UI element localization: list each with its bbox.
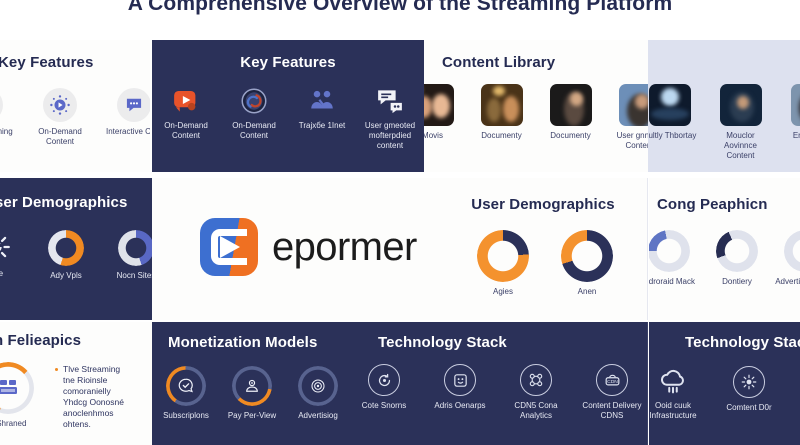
broadcast-icon [0, 88, 3, 122]
user-demographics-dark-list: Ape Ady Vpls Nocn Sites [0, 230, 152, 281]
video-play-icon [171, 86, 201, 116]
list-item-label: Cultly Thbortay [648, 131, 701, 141]
list-item-label: Documenty [471, 131, 533, 141]
list-item[interactable]: Dontiery [706, 230, 768, 287]
target-icon [298, 366, 338, 406]
key-features-dark-list: On-Demand Content On-Demand Content [158, 86, 418, 151]
list-item[interactable]: CDN5 Cona Analytics [505, 364, 567, 421]
sun-burst-icon [733, 366, 765, 398]
thumbnail-concert [649, 84, 691, 126]
chat-check-icon [166, 366, 206, 406]
server-stack-icon [0, 362, 34, 414]
list-item-label: Mouclor Aovinnce Content [710, 131, 772, 161]
panel-monetization: Monetization Models Subscriplons [152, 322, 352, 445]
thumbnail-person-hood [720, 84, 762, 126]
list-item-label: Adris Oenarps [429, 401, 491, 411]
list-item-label: Pay Per-View [221, 411, 283, 421]
panel-title: User Demographics [0, 194, 127, 211]
list-item[interactable]: Subscriplons [155, 366, 217, 421]
list-item[interactable]: On-Demand Content [155, 86, 217, 141]
list-item-label: Live Streaming [0, 127, 17, 137]
list-item[interactable]: Mouclor Aovinnce Content [710, 84, 772, 161]
list-item-label: CDN5 Cona Analytics [505, 401, 567, 421]
sparkle-burst-icon [0, 230, 13, 264]
epormer-play-logo-icon [200, 218, 258, 276]
list-item[interactable]: Cote Snorns [353, 364, 415, 411]
list-item[interactable]: Movis [424, 84, 464, 141]
user-demographics-light-list: Agies Anen [460, 230, 630, 297]
list-item[interactable]: User gnneed Content [609, 84, 649, 151]
list-item[interactable]: Ape [0, 230, 27, 279]
list-item-label: Dontiery [706, 277, 768, 287]
donut-chart [784, 230, 800, 272]
list-item[interactable]: Data Analytic [794, 366, 800, 413]
list-item-label: Cote Snorns [353, 401, 415, 411]
donut-chart [716, 230, 758, 272]
list-item-label: On-Demand Content [155, 121, 217, 141]
cdn-badge-icon: CDN [596, 364, 628, 396]
felieapics-icon-item[interactable]: e Shraned [0, 362, 40, 429]
list-item-label: On-Demand Content [29, 127, 91, 147]
list-item-label: Content Delivery CDNS [581, 401, 643, 421]
panel-title: Monetization Models [168, 334, 317, 351]
thumbnail-portrait [550, 84, 592, 126]
panel-title: Content Library [442, 54, 555, 71]
panel-title: Key Features [152, 54, 424, 71]
list-item[interactable]: Pay Per-View [221, 366, 283, 421]
list-item-label: Advertisi Moores [774, 277, 800, 287]
donut-chart [48, 230, 84, 266]
list-item[interactable]: Ooid cuuk Infrastructure [649, 366, 704, 421]
list-item[interactable]: Udroraid Mack [649, 230, 700, 287]
list-item-label: Interactive Chat [103, 127, 150, 137]
panel-tech-stack-right: Technology Stack Ooid cuuk Infrastructur… [649, 322, 800, 445]
list-item[interactable]: Interactive Chat [103, 88, 150, 137]
panel-user-demographics-dark: User Demographics Ape Ady Vpls Nocn Site… [0, 178, 152, 320]
list-item-label: Advertisiog [287, 411, 349, 421]
chat-messages-icon [375, 86, 405, 116]
panel-content-right: Cultly Thbortay Mouclor Aovinnce Content… [648, 40, 800, 172]
list-item-label: Documenty [540, 131, 602, 141]
list-item[interactable]: Ady Vpls [35, 230, 97, 281]
list-item-label: Ooid cuuk Infrastructure [649, 401, 704, 421]
list-item[interactable]: Live Streaming [0, 88, 17, 137]
panel-key-features-light: Key Features Live Streaming [0, 40, 150, 172]
list-item[interactable]: Documenty [540, 84, 602, 141]
list-item-label: User gmeoted mofterpdied content [359, 121, 421, 151]
thumbnail-woman-sky [619, 84, 649, 126]
thumbnail-couple [424, 84, 454, 126]
list-item[interactable]: Documenty [471, 84, 533, 141]
list-item[interactable]: On-Demand Content [223, 86, 285, 141]
content-library-list: Movis Documenty Documenty User gnneed Co… [436, 84, 636, 151]
list-item[interactable]: Trajxбe 1Inet [291, 86, 353, 131]
list-item-label: Anen [556, 287, 618, 297]
panel-title: User Demographics [438, 196, 648, 213]
panel-content-library: Content Library Movis Documenty Docum [424, 40, 648, 172]
panel-user-demographics-light: User Demographics Agies Anen [438, 178, 648, 320]
list-item-label: Agies [472, 287, 534, 297]
panel-tech-stack-center: Technology Stack Cote Snorns Adris Oen [352, 322, 648, 445]
list-item[interactable]: Advertisiog [287, 366, 349, 421]
list-item[interactable]: Anen [556, 230, 618, 297]
cloud-rain-icon [657, 366, 689, 396]
monetization-list: Subscriplons Pay Per-View [156, 366, 348, 421]
list-item[interactable]: Cultly Thbortay [648, 84, 701, 141]
panel-title: Technology Stack [685, 334, 800, 351]
panel-title: Cong Peaphicn [657, 196, 767, 213]
smiley-square-icon [444, 364, 476, 396]
user-badge-icon [232, 366, 272, 406]
list-item-label: Ape [0, 269, 27, 279]
list-item-label: Comtent D0r [718, 403, 780, 413]
list-item: Tlve Streaming tne Rioinsle comoranielly… [55, 364, 133, 430]
network-nodes-icon [520, 364, 552, 396]
felieapics-bullets: Tlve Streaming tne Rioinsle comoranielly… [46, 364, 133, 430]
panel-key-features-dark: Key Features On-Demand Content [152, 40, 424, 172]
spinner-disc-icon [239, 86, 269, 116]
list-item[interactable]: Nocn Sites [105, 230, 152, 281]
panel-cong-peaphicn: Cong Peaphicn Udroraid Mack Dontiery Adv… [649, 178, 800, 320]
list-item-label: Trajxбe 1Inet [291, 121, 353, 131]
panel-title: n Felieapics [0, 332, 81, 349]
donut-chart [477, 230, 529, 282]
content-right-list: Cultly Thbortay Mouclor Aovinnce Content… [658, 84, 800, 161]
list-item-label: Enor Spes [781, 131, 800, 141]
list-item[interactable]: Agies [472, 230, 534, 297]
refresh-circle-icon [368, 364, 400, 396]
thumbnail-two-people [481, 84, 523, 126]
list-item-label: Udroraid Mack [649, 277, 700, 287]
tech-stack-center-list: Cote Snorns Adris Oenarps [368, 364, 628, 421]
page-title: A Comprehensive Overview of the Streamin… [0, 0, 800, 16]
brand-logo[interactable]: epormer [200, 218, 417, 276]
list-item[interactable]: On-Demand Content [29, 88, 91, 147]
list-item-label: Movis [424, 131, 464, 141]
felieapics-icon-label: e Shraned [0, 419, 39, 429]
donut-chart [561, 230, 613, 282]
people-group-icon [307, 86, 337, 116]
list-item-label: Subscriplons [155, 411, 217, 421]
chat-bubble-icon [117, 88, 150, 122]
list-item[interactable]: Comtent D0r [718, 366, 780, 413]
list-item-label: Data Analytic [794, 403, 800, 413]
cong-peaphicn-list: Udroraid Mack Dontiery Advertisi Moores [651, 230, 800, 287]
panel-title: Key Features [0, 54, 93, 71]
list-item[interactable]: User gmeoted mofterpdied content [359, 86, 421, 151]
list-item[interactable]: Adris Oenarps [429, 364, 491, 411]
list-item-label: Nocn Sites [105, 271, 152, 281]
donut-chart [118, 230, 152, 266]
list-item-label: Ady Vpls [35, 271, 97, 281]
list-item[interactable]: Advertisi Moores [774, 230, 800, 287]
panel-felieapics: n Felieapics e Shraned Tlve Streaming tn… [0, 322, 152, 445]
svg-text:CDN: CDN [607, 378, 618, 384]
panel-brand: epormer [152, 178, 438, 320]
panel-title: Technology Stack [378, 334, 507, 351]
play-circle-icon [43, 88, 77, 122]
list-item-label: User gnneed Content [609, 131, 649, 151]
donut-chart [649, 230, 690, 272]
tech-stack-right-list: Ooid cuuk Infrastructure Comtent D0r [659, 366, 800, 421]
key-features-light-list: Live Streaming On-Demand Content [0, 88, 150, 147]
brand-name: epormer [272, 225, 417, 270]
list-item-label: On-Demand Content [223, 121, 285, 141]
list-item[interactable]: Enor Spes [781, 84, 800, 141]
list-item[interactable]: CDN Content Delivery CDNS [581, 364, 643, 421]
thumbnail-woman-portrait [791, 84, 800, 126]
